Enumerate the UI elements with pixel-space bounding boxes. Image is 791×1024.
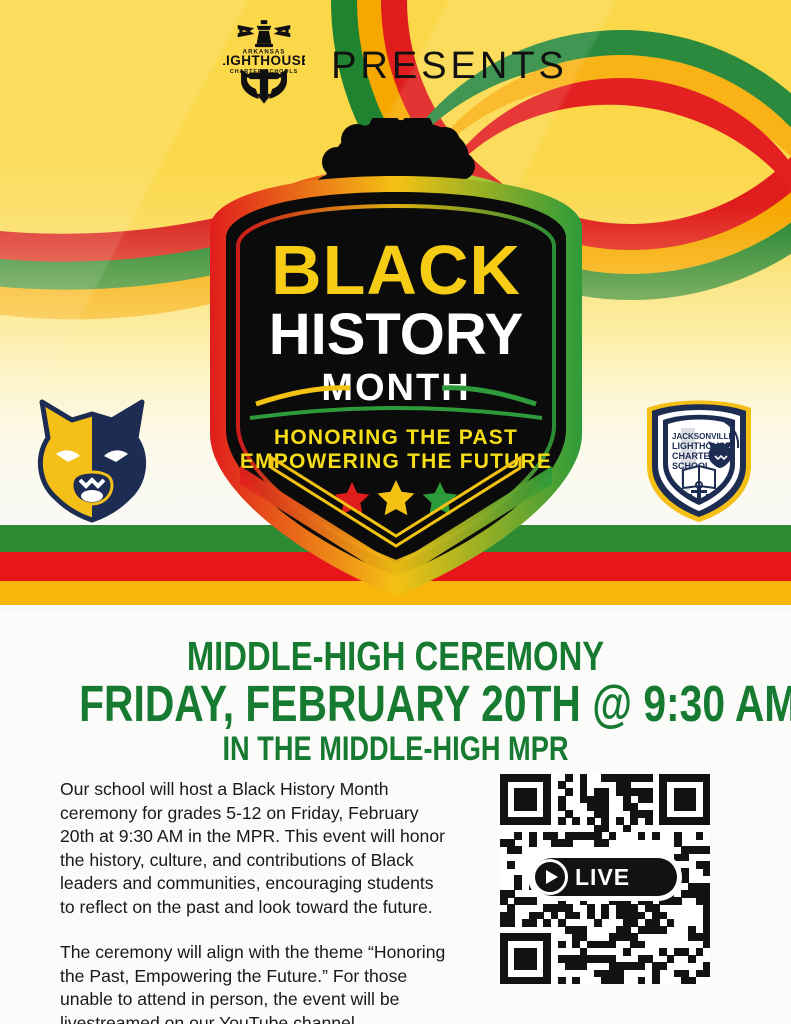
badge-tagline-line2: EMPOWERING THE FUTURE xyxy=(239,450,551,473)
crest-book-icon xyxy=(683,466,715,488)
event-heading-line1: MIDDLE-HIGH CEREMONY xyxy=(79,634,712,678)
details-section: MIDDLE-HIGH CEREMONY FRIDAY, FEBRUARY 20… xyxy=(0,612,791,1024)
jacksonville-lighthouse-crest-icon: JACKSONVILLE LIGHTHOUSE CHARTER SCHOOL xyxy=(639,392,759,524)
paragraph-1: Our school will host a Black History Mon… xyxy=(60,778,452,919)
arkansas-lighthouse-logo: ARKANSAS LIGHTHOUSE CHARTER SCHOOLS xyxy=(223,18,305,114)
play-triangle-icon xyxy=(546,870,558,884)
badge-tagline-line1: HONORING THE PAST xyxy=(273,426,517,449)
black-history-month-badge: BLACK HISTORY MONTH HONORING THE PAST EM… xyxy=(200,166,592,606)
qr-code[interactable]: LIVE xyxy=(500,774,710,984)
event-heading-line3: IN THE MIDDLE-HIGH MPR xyxy=(79,730,712,768)
poster: ARKANSAS LIGHTHOUSE CHARTER SCHOOLS PRES… xyxy=(0,0,791,1024)
badge-title-history: HISTORY xyxy=(268,302,523,367)
badge-title-black: BLACK xyxy=(271,231,521,309)
logo-line-bottom: CHARTER SCHOOLS xyxy=(230,69,298,75)
presents-label: PRESENTS xyxy=(331,47,568,85)
event-description: Our school will host a Black History Mon… xyxy=(60,778,452,1024)
live-badge: LIVE xyxy=(533,858,677,896)
hero-section: ARKANSAS LIGHTHOUSE CHARTER SCHOOLS PRES… xyxy=(0,0,791,612)
logo-line-main: LIGHTHOUSE xyxy=(223,53,305,68)
play-button-icon xyxy=(532,859,568,895)
wolf-mascot-icon xyxy=(28,394,156,524)
event-headings: MIDDLE-HIGH CEREMONY FRIDAY, FEBRUARY 20… xyxy=(0,612,791,768)
crest-line1: JACKSONVILLE xyxy=(672,432,734,441)
paragraph-2: The ceremony will align with the theme “… xyxy=(60,941,452,1024)
body-area: Our school will host a Black History Mon… xyxy=(0,770,791,1024)
live-label: LIVE xyxy=(575,866,630,889)
presents-row: ARKANSAS LIGHTHOUSE CHARTER SCHOOLS PRES… xyxy=(0,14,791,118)
event-heading-line2: FRIDAY, FEBRUARY 20TH @ 9:30 AM xyxy=(79,678,712,730)
